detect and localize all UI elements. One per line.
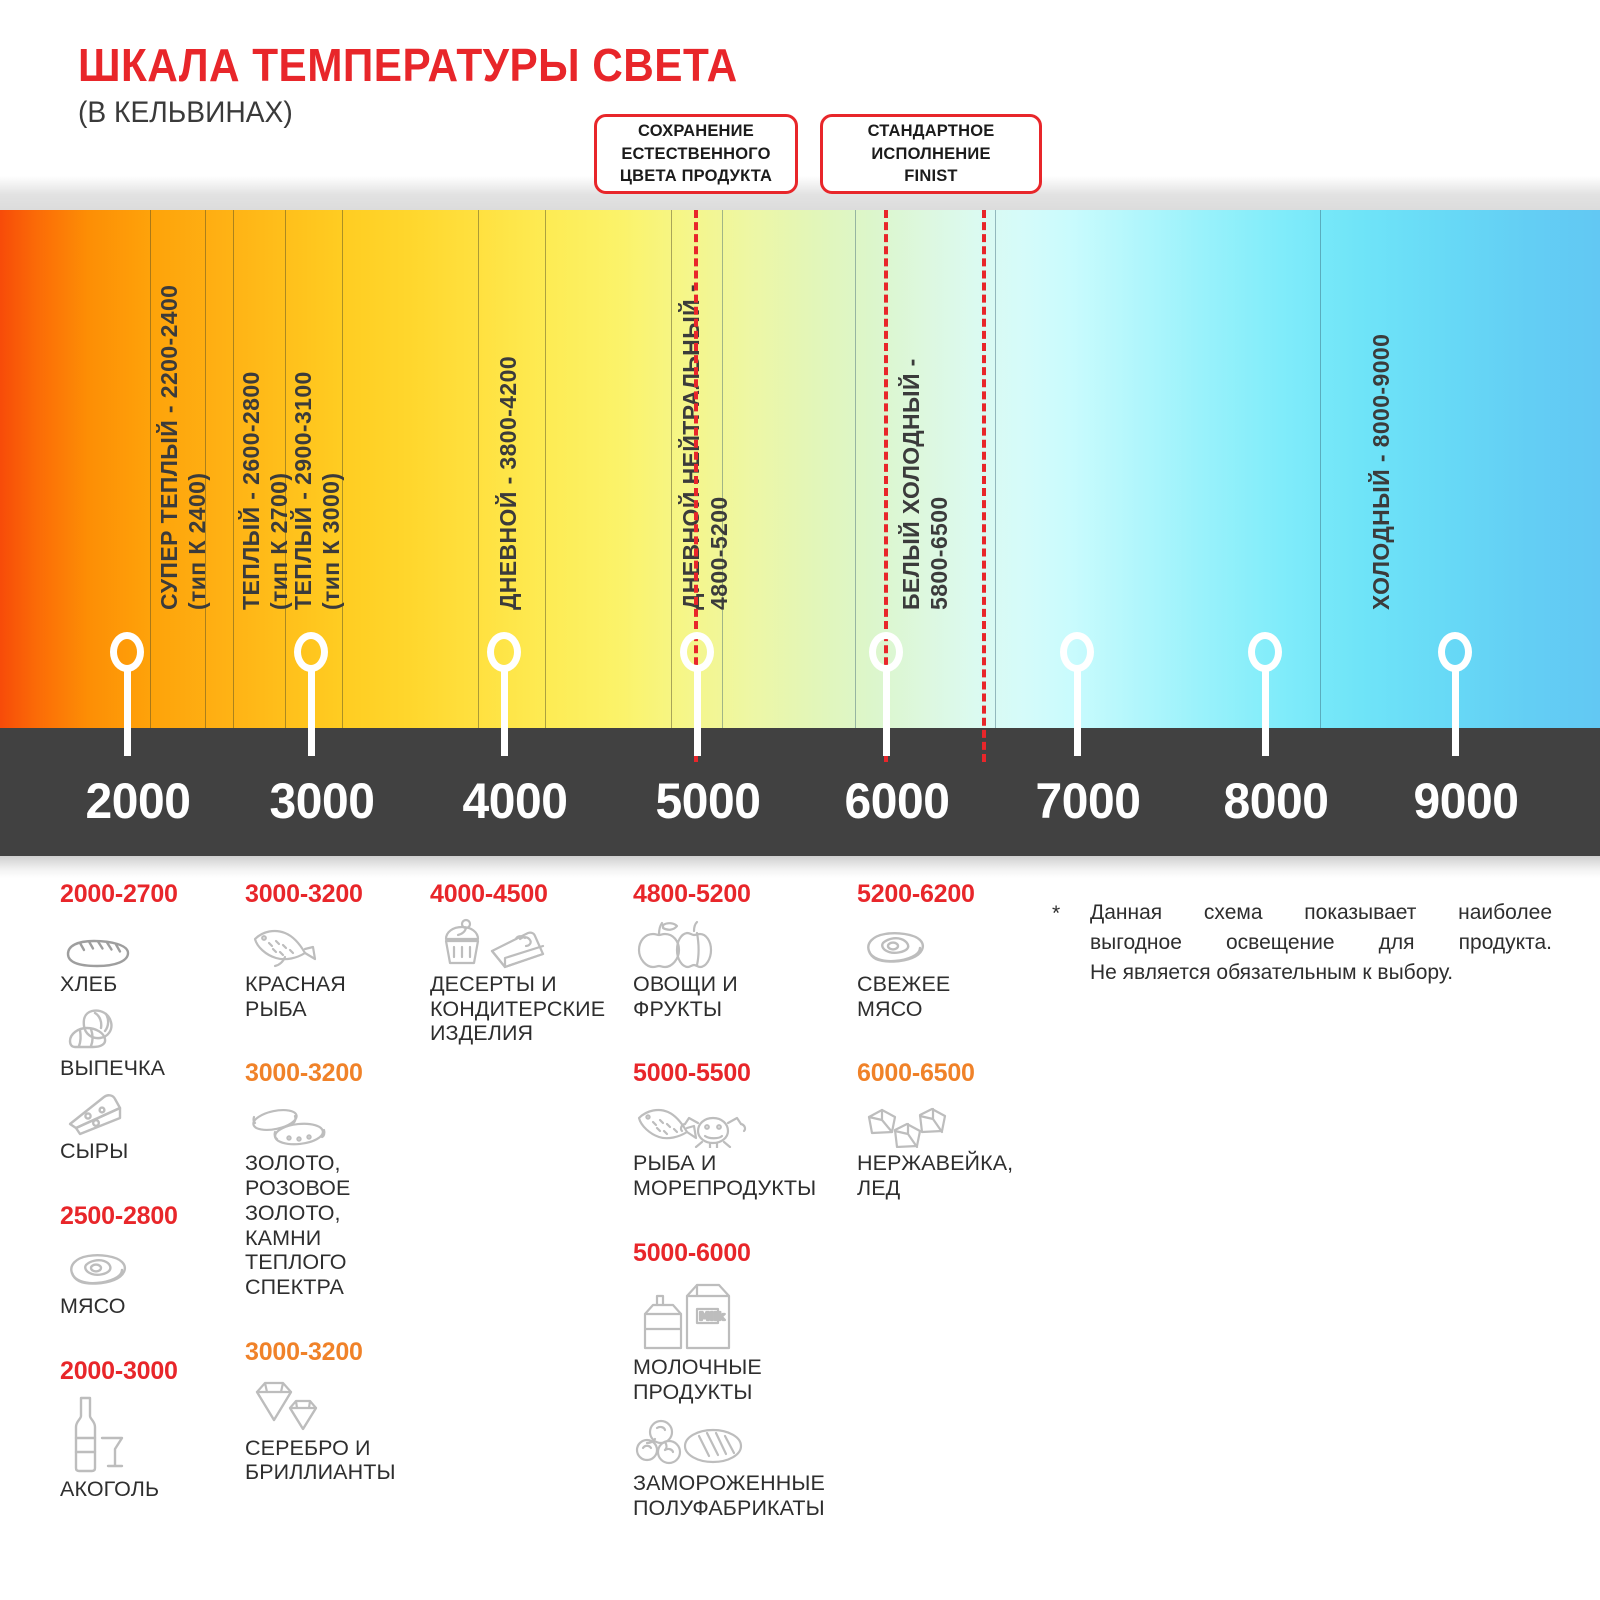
- alcohol-icon: [62, 1394, 230, 1474]
- zone-label-name: ТЕПЛЫЙ - 2900-3100: [290, 371, 317, 610]
- scale-tick-2000: 2000: [47, 772, 229, 830]
- scale-tick-3000: 3000: [231, 772, 413, 830]
- zone-divider: [342, 210, 343, 728]
- scale-pin-7000: [1060, 632, 1094, 756]
- zone-divider: [150, 210, 151, 728]
- legend-item-label: МОЛОЧНЫЕ ПРОДУКТЫ: [633, 1355, 858, 1404]
- legend-range: 5000-5500: [633, 1059, 858, 1088]
- cheese-icon: [62, 1084, 230, 1136]
- legend-item: КРАСНАЯ РЫБА: [245, 917, 425, 1021]
- legend-item: СВЕЖЕЕ МЯСО: [857, 917, 1047, 1021]
- legend-group: 2000-3000 АКОГОЛЬ: [60, 1357, 230, 1502]
- legend-group: 5200-6200 СВЕЖЕЕ МЯСО: [857, 880, 1047, 1021]
- footnote: * Данная схема показывает наиболее выгод…: [1052, 898, 1552, 987]
- pin-stem: [883, 670, 890, 756]
- pin-head-icon: [1060, 632, 1094, 672]
- scale-pin-2000: [110, 632, 144, 756]
- scale-tick-4000: 4000: [424, 772, 606, 830]
- zone-label-warm-3000-sub: (тип К 3000): [318, 473, 345, 610]
- zone-label-warm-3000: ТЕПЛЫЙ - 2900-3100: [290, 371, 317, 610]
- legend-item: СЕРЕБРО И БРИЛЛИАНТЫ: [245, 1375, 425, 1485]
- zone-divider: [722, 210, 723, 728]
- zone-divider: [205, 210, 206, 728]
- pin-stem: [308, 670, 315, 756]
- pin-head-icon: [869, 632, 903, 672]
- zone-label-white-cool: БЕЛЫЙ ХОЛОДНЫЙ -: [898, 358, 925, 610]
- zone-divider: [478, 210, 479, 728]
- zone-label-name: СУПЕР ТЕПЛЫЙ - 2200-2400: [156, 285, 183, 610]
- legend-range: 2000-3000: [60, 1357, 230, 1386]
- page-subtitle: (В КЕЛЬВИНАХ): [78, 96, 293, 130]
- scale-pin-6000: [869, 632, 903, 756]
- pin-head-icon: [1438, 632, 1472, 672]
- zone-label-daylight-neutral: ДНЕВНОЙ НЕЙТРАЛЬНЫЙ -: [678, 284, 705, 610]
- zone-label-name: ДНЕВНОЙ НЕЙТРАЛЬНЫЙ -: [678, 284, 705, 610]
- legend-item-label: СВЕЖЕЕ МЯСО: [857, 972, 1047, 1021]
- svg-text:Milk: Milk: [699, 1310, 725, 1323]
- legend-item-label: ДЕСЕРТЫ И КОНДИТЕРСКИЕ ИЗДЕЛИЯ: [430, 972, 620, 1046]
- pin-stem: [694, 670, 701, 756]
- zone-label-sub: (тип К 2400): [184, 473, 211, 610]
- legend-range: 5000-6000: [633, 1239, 858, 1268]
- callout-text: СТАНДАРТНОЕ ИСПОЛНЕНИЕ FINIST: [860, 120, 1003, 187]
- legend-group: 4000-4500 ДЕСЕРТЫ И КОНДИТЕРСКИЕ ИЗДЕЛИЯ: [430, 880, 620, 1046]
- zone-label-super-warm: СУПЕР ТЕПЛЫЙ - 2200-2400: [156, 285, 183, 610]
- legend-item-label: АКОГОЛЬ: [60, 1477, 230, 1502]
- legend-group: 2500-2800 МЯСО: [60, 1202, 230, 1319]
- scale-band-shadow: [0, 856, 1600, 878]
- zone-label-sub: (тип К 2700): [266, 473, 293, 610]
- pin-stem: [501, 670, 508, 756]
- frozen-food-icon: [635, 1416, 858, 1468]
- zone-label-warm-2700-sub: (тип К 2700): [266, 473, 293, 610]
- steak-icon: [62, 1239, 230, 1291]
- callout-text: СОХРАНЕНИЕ ЕСТЕСТВЕННОГО ЦВЕТА ПРОДУКТА: [612, 120, 780, 187]
- legend-column-5: 5200-6200 СВЕЖЕЕ МЯСО 6000-6500 НЕРЖАВЕЙ…: [857, 880, 1047, 1205]
- legend-range: 6000-6500: [857, 1059, 1047, 1088]
- scale-pin-9000: [1438, 632, 1472, 756]
- pastry-icon: [62, 1001, 230, 1053]
- legend-group: 3000-3200 ЗОЛОТО, РОЗОВОЕ ЗОЛОТО, КАМНИ …: [245, 1059, 425, 1299]
- zone-divider: [855, 210, 856, 728]
- legend-item: СЫРЫ: [60, 1084, 230, 1164]
- zone-label-name: ДНЕВНОЙ - 3800-4200: [495, 356, 522, 610]
- zone-label-daylight-neutral-sub: 4800-5200: [706, 496, 733, 610]
- pin-stem: [1262, 670, 1269, 756]
- legend-range: 3000-3200: [245, 880, 425, 909]
- pin-stem: [1452, 670, 1459, 756]
- scale-tick-6000: 6000: [806, 772, 988, 830]
- legend-item: Milk МОЛОЧНЫЕ ПРОДУКТЫ: [633, 1276, 858, 1404]
- legend-range: 2000-2700: [60, 880, 230, 909]
- legend: 2000-2700 ХЛЕБ ВЫПЕЧКА СЫРЫ 25: [0, 880, 1600, 1600]
- legend-item: ВЫПЕЧКА: [60, 1001, 230, 1081]
- zone-label-name: БЕЛЫЙ ХОЛОДНЫЙ -: [898, 358, 925, 610]
- legend-item: АКОГОЛЬ: [60, 1394, 230, 1502]
- legend-item: ХЛЕБ: [60, 917, 230, 997]
- footnote-line-2: выгодное освещение для продукта.: [1090, 928, 1552, 958]
- pin-head-icon: [487, 632, 521, 672]
- zone-label-sub: 4800-5200: [706, 496, 733, 610]
- scale-pin-5000: [680, 632, 714, 756]
- footnote-text: Данная схема показывает наиболее выгодно…: [1090, 898, 1552, 987]
- legend-group: 6000-6500 НЕРЖАВЕЙКА, ЛЕД: [857, 1059, 1047, 1200]
- zone-label-name: ХОЛОДНЫЙ - 8000-9000: [1368, 334, 1395, 610]
- legend-group: 5000-6000 Milk МОЛОЧНЫЕ ПРОДУКТЫ ЗАМОРОЖ…: [633, 1239, 858, 1521]
- footnote-marker: *: [1052, 902, 1060, 926]
- legend-item-label: СЕРЕБРО И БРИЛЛИАНТЫ: [245, 1436, 425, 1485]
- legend-column-2: 3000-3200 КРАСНАЯ РЫБА 3000-3200 ЗОЛОТО,…: [245, 880, 425, 1489]
- legend-item-label: ХЛЕБ: [60, 972, 230, 997]
- legend-item: ЗАМОРОЖЕННЫЕ ПОЛУФАБРИКАТЫ: [633, 1416, 858, 1520]
- header: ШКАЛА ТЕМПЕРАТУРЫ СВЕТА (В КЕЛЬВИНАХ): [0, 0, 1600, 200]
- legend-group: 5000-5500 РЫБА И МОРЕПРОДУКТЫ: [633, 1059, 858, 1200]
- zone-label-daylight: ДНЕВНОЙ - 3800-4200: [495, 356, 522, 610]
- scale-pin-4000: [487, 632, 521, 756]
- zone-label-sub: (тип К 3000): [318, 473, 345, 610]
- legend-group: 3000-3200 СЕРЕБРО И БРИЛЛИАНТЫ: [245, 1338, 425, 1485]
- fish-crab-icon: [635, 1096, 858, 1148]
- legend-range: 4800-5200: [633, 880, 858, 909]
- legend-group: 3000-3200 КРАСНАЯ РЫБА: [245, 880, 425, 1021]
- scale-tick-9000: 9000: [1375, 772, 1557, 830]
- pin-head-icon: [1248, 632, 1282, 672]
- legend-column-3: 4000-4500 ДЕСЕРТЫ И КОНДИТЕРСКИЕ ИЗДЕЛИЯ: [430, 880, 620, 1050]
- ice-cubes-icon: [859, 1096, 1047, 1148]
- zone-label-super-warm-sub: (тип К 2400): [184, 473, 211, 610]
- legend-item-label: ЗОЛОТО, РОЗОВОЕ ЗОЛОТО, КАМНИ ТЕПЛОГО СП…: [245, 1151, 425, 1299]
- legend-item-label: ЗАМОРОЖЕННЫЕ ПОЛУФАБРИКАТЫ: [633, 1471, 858, 1520]
- zone-divider: [671, 210, 672, 728]
- scale-pin-3000: [294, 632, 328, 756]
- diamond-icon: [247, 1375, 425, 1433]
- pin-head-icon: [294, 632, 328, 672]
- pin-stem: [124, 670, 131, 756]
- legend-range: 5200-6200: [857, 880, 1047, 909]
- legend-range: 3000-3200: [245, 1338, 425, 1367]
- legend-group: 2000-2700 ХЛЕБ ВЫПЕЧКА СЫРЫ: [60, 880, 230, 1164]
- legend-item: ЗОЛОТО, РОЗОВОЕ ЗОЛОТО, КАМНИ ТЕПЛОГО СП…: [245, 1096, 425, 1299]
- zone-label-white-cool-sub: 5800-6500: [926, 496, 953, 610]
- callout-standard-finist[interactable]: СТАНДАРТНОЕ ИСПОЛНЕНИЕ FINIST: [820, 114, 1042, 194]
- legend-item: НЕРЖАВЕЙКА, ЛЕД: [857, 1096, 1047, 1200]
- milk-icon: Milk: [635, 1276, 858, 1352]
- callout-guide-line: [982, 210, 986, 762]
- zone-divider: [285, 210, 286, 728]
- legend-item: МЯСО: [60, 1239, 230, 1319]
- legend-range: 2500-2800: [60, 1202, 230, 1231]
- footnote-line-3: Не является обязательным к выбору.: [1090, 958, 1552, 988]
- red-fish-icon: [247, 917, 425, 969]
- legend-item-label: РЫБА И МОРЕПРОДУКТЫ: [633, 1151, 858, 1200]
- scale-tick-8000: 8000: [1185, 772, 1367, 830]
- legend-item-label: ОВОЩИ И ФРУКТЫ: [633, 972, 858, 1021]
- bread-icon: [62, 917, 230, 969]
- page-title: ШКАЛА ТЕМПЕРАТУРЫ СВЕТА: [78, 38, 738, 92]
- fruit-vegetable-icon: [635, 917, 858, 969]
- legend-item-label: НЕРЖАВЕЙКА, ЛЕД: [857, 1151, 1047, 1200]
- legend-range: 3000-3200: [245, 1059, 425, 1088]
- legend-item: РЫБА И МОРЕПРОДУКТЫ: [633, 1096, 858, 1200]
- scale-pin-8000: [1248, 632, 1282, 756]
- footnote-line-1: Данная схема показывает наиболее: [1090, 898, 1552, 928]
- legend-column-1: 2000-2700 ХЛЕБ ВЫПЕЧКА СЫРЫ 25: [60, 880, 230, 1506]
- legend-item-label: СЫРЫ: [60, 1139, 230, 1164]
- zone-divider: [1320, 210, 1321, 728]
- pin-head-icon: [110, 632, 144, 672]
- legend-item: ДЕСЕРТЫ И КОНДИТЕРСКИЕ ИЗДЕЛИЯ: [430, 917, 620, 1046]
- zone-divider: [545, 210, 546, 728]
- scale-tick-5000: 5000: [617, 772, 799, 830]
- zone-divider: [995, 210, 996, 728]
- legend-item-label: МЯСО: [60, 1294, 230, 1319]
- legend-item: ОВОЩИ И ФРУКТЫ: [633, 917, 858, 1021]
- legend-column-4: 4800-5200 ОВОЩИ И ФРУКТЫ 5000-5500 РЫБА …: [633, 880, 858, 1525]
- legend-item-label: КРАСНАЯ РЫБА: [245, 972, 425, 1021]
- zone-label-sub: 5800-6500: [926, 496, 953, 610]
- zone-label-warm-2700: ТЕПЛЫЙ - 2600-2800: [238, 371, 265, 610]
- gold-rings-icon: [247, 1096, 425, 1148]
- legend-item-label: ВЫПЕЧКА: [60, 1056, 230, 1081]
- pin-head-icon: [680, 632, 714, 672]
- zone-label-cool: ХОЛОДНЫЙ - 8000-9000: [1368, 334, 1395, 610]
- legend-range: 4000-4500: [430, 880, 620, 909]
- scale-tick-7000: 7000: [997, 772, 1179, 830]
- fresh-meat-icon: [859, 917, 1047, 969]
- top-strip: [0, 176, 1600, 210]
- dessert-icon: [432, 917, 620, 969]
- legend-group: 4800-5200 ОВОЩИ И ФРУКТЫ: [633, 880, 858, 1021]
- zone-divider: [233, 210, 234, 728]
- callout-natural-color[interactable]: СОХРАНЕНИЕ ЕСТЕСТВЕННОГО ЦВЕТА ПРОДУКТА: [594, 114, 798, 194]
- zone-label-name: ТЕПЛЫЙ - 2600-2800: [238, 371, 265, 610]
- pin-stem: [1074, 670, 1081, 756]
